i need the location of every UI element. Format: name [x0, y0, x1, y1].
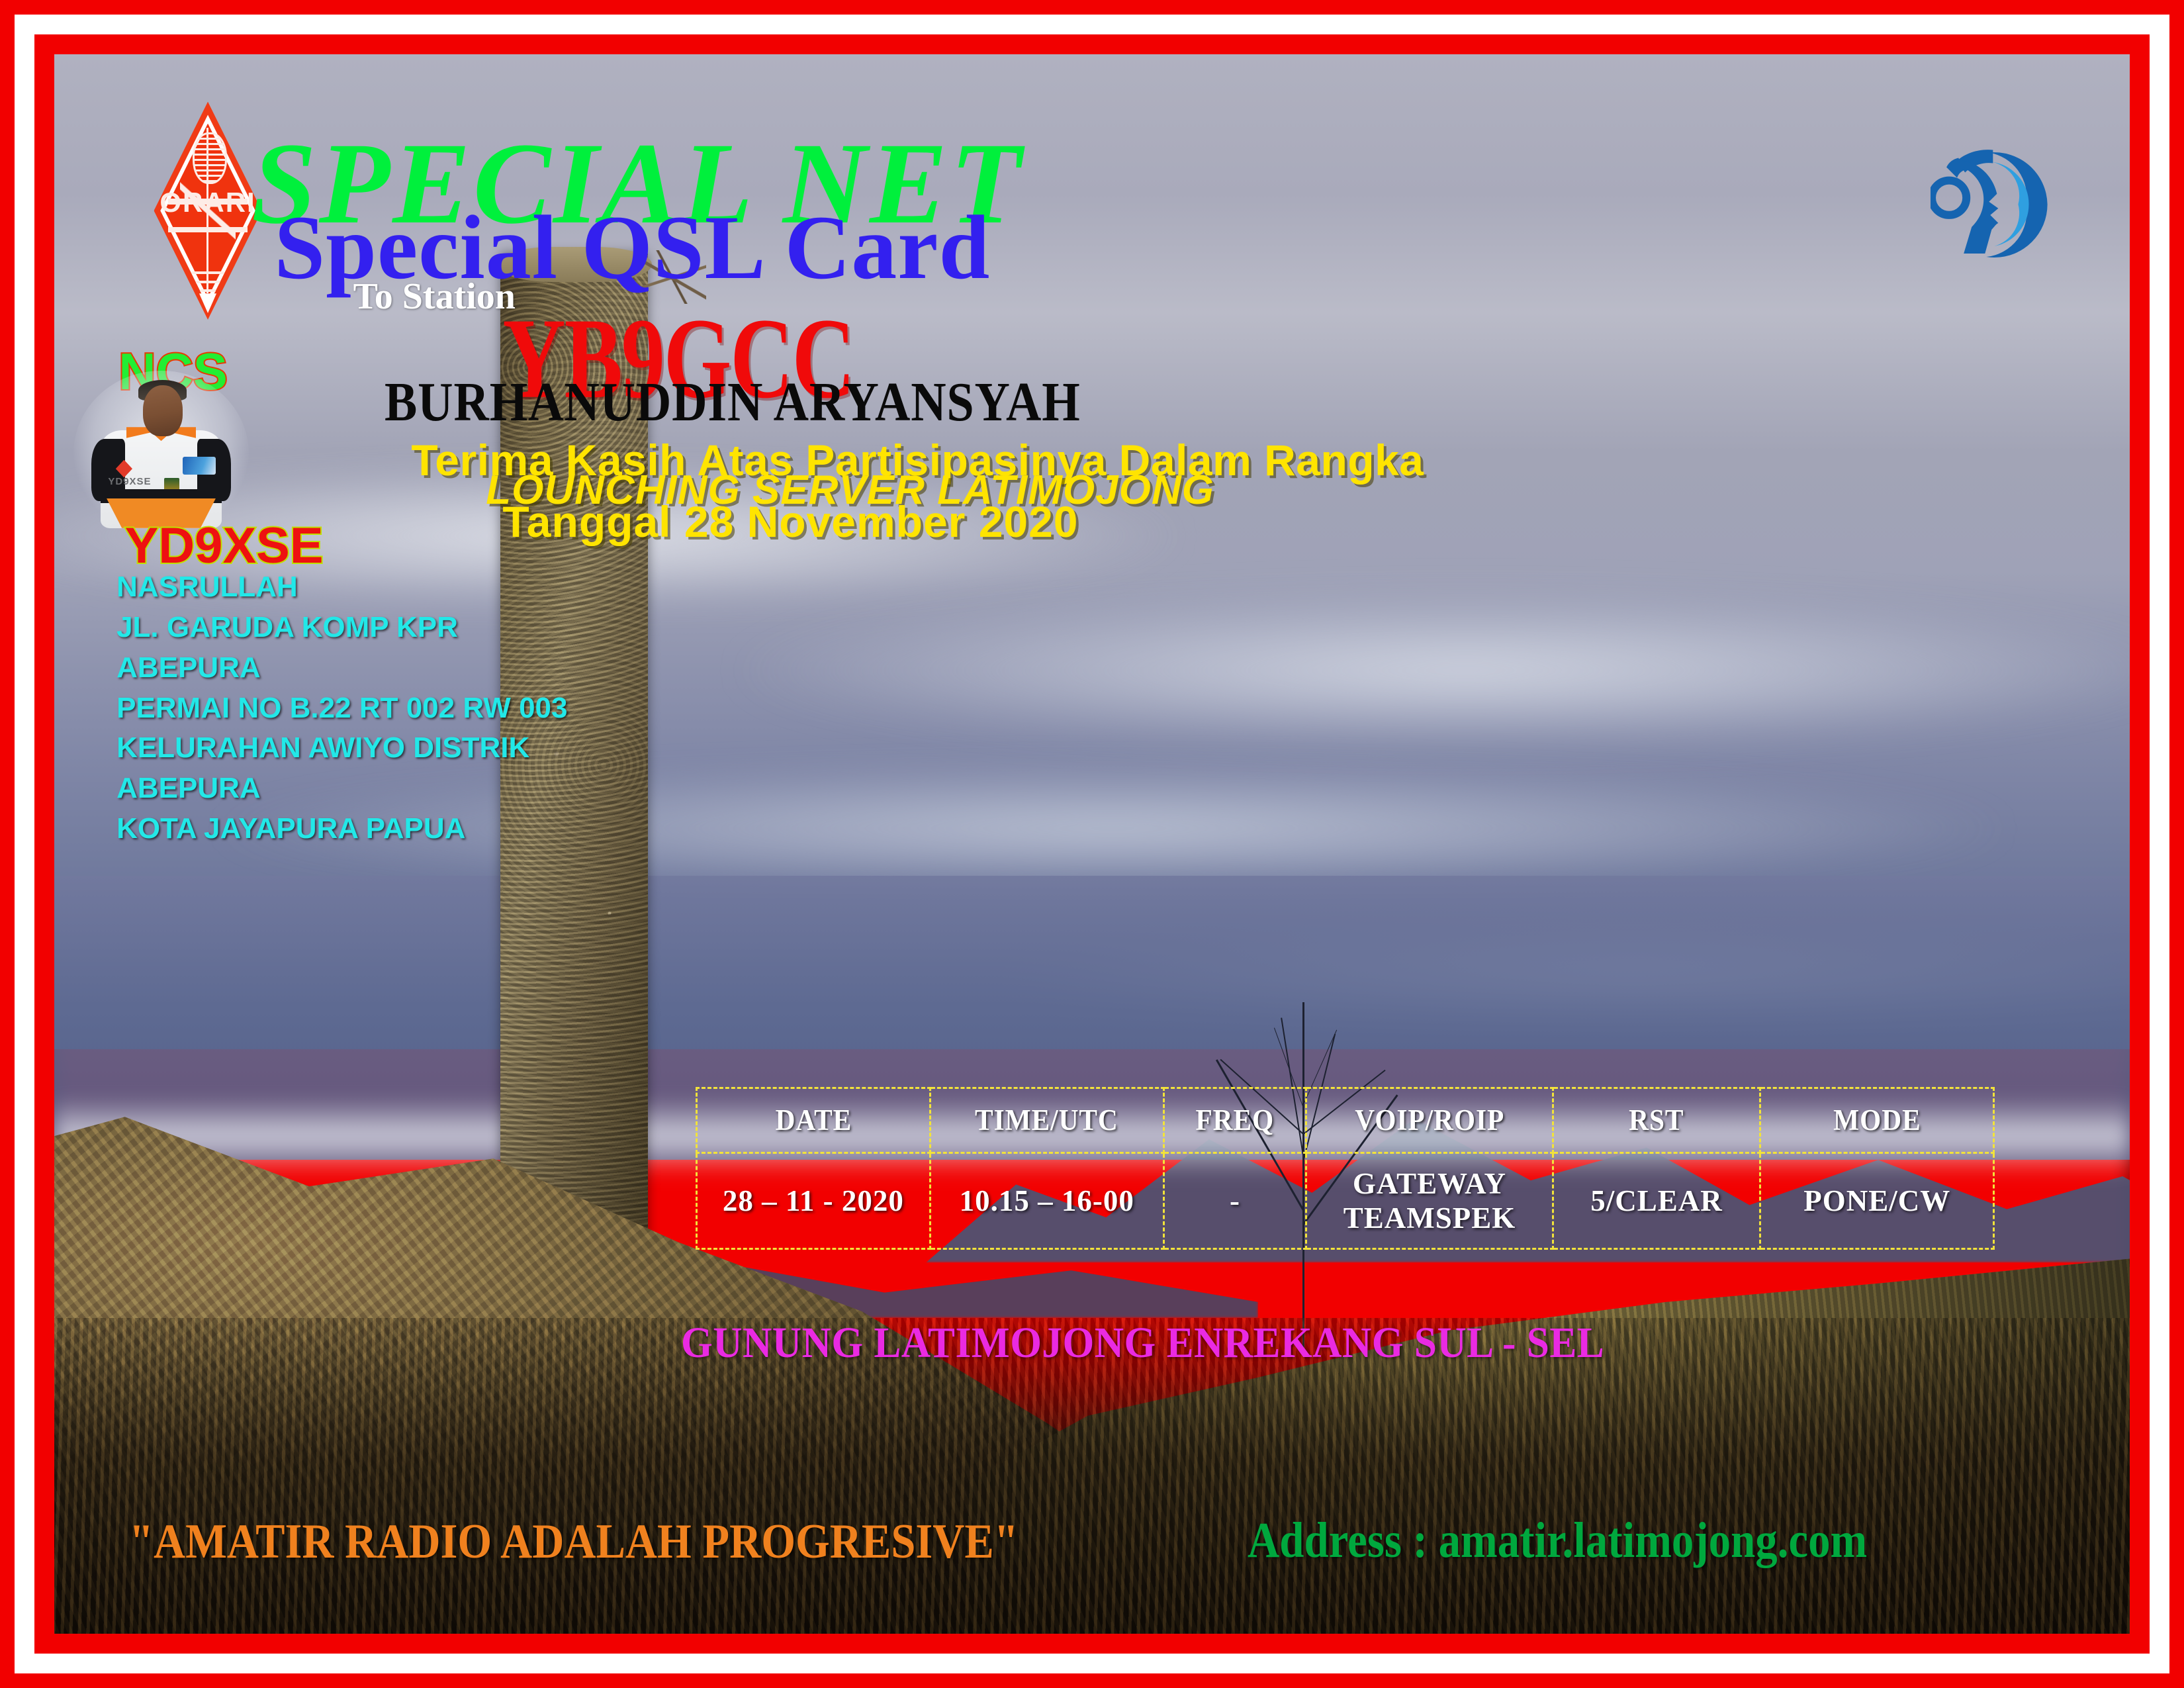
cell-freq: -: [1163, 1152, 1306, 1249]
column-header-voip-roip: VOIP/ROIP: [1316, 1088, 1543, 1152]
table-header-row: DATE TIME/UTC FREQ VOIP/ROIP RST MODE: [697, 1088, 1994, 1152]
to-station-label: To Station: [353, 275, 516, 318]
event-date: Tanggal 28 November 2020: [502, 496, 1078, 547]
table-row: 28 – 11 - 2020 10.15 – 16-00 - GATEWAY T…: [697, 1152, 1994, 1249]
cell-time: 10.15 – 16-00: [930, 1152, 1163, 1249]
address-line: JL. GARUDA KOMP KPR: [116, 608, 567, 648]
cell-voip-line-2: TEAMSPEK: [1343, 1201, 1516, 1235]
address-line: PERMAI NO B.22 RT 002 RW 003: [116, 688, 567, 729]
footer-website: Address : amatir.latimojong.com: [1248, 1512, 1867, 1570]
cell-voip-roip: GATEWAY TEAMSPEK: [1306, 1152, 1553, 1249]
address-line: ABEPURA: [116, 769, 567, 809]
column-header-rst: RST: [1561, 1088, 1752, 1152]
address-line: KOTA JAYAPURA PAPUA: [116, 809, 567, 849]
cell-mode: PONE/CW: [1760, 1152, 1994, 1249]
address-line: KELURAHAN AWIYO DISTRIK: [116, 728, 567, 769]
location-caption: GUNUNG LATIMOJONG ENREKANG SUL - SEL: [681, 1318, 1604, 1368]
operator-name: BURHANUDDIN ARYANSYAH: [385, 370, 1081, 434]
qsl-card: ORARI SPECIAL NET Special QSL Card To St…: [0, 0, 2184, 1688]
column-header-date: DATE: [706, 1088, 921, 1152]
qso-log-table: DATE TIME/UTC FREQ VOIP/ROIP RST MODE 28…: [696, 1087, 1995, 1250]
column-header-time: TIME/UTC: [939, 1088, 1154, 1152]
cell-date: 28 – 11 - 2020: [697, 1152, 931, 1249]
address-line: ABEPURA: [116, 648, 567, 688]
photo-face: [143, 385, 183, 436]
cell-voip-line-1: GATEWAY: [1353, 1167, 1506, 1200]
photo-shoulder-patch: [183, 457, 216, 475]
cloud-layer-2: [719, 591, 2130, 749]
column-header-freq: FREQ: [1169, 1088, 1300, 1152]
headset-profile-logo: [1931, 111, 2064, 298]
photo-shirt-callsign: YD9XSE: [108, 476, 151, 487]
card-photo-area: ORARI SPECIAL NET Special QSL Card To St…: [54, 54, 2130, 1634]
cell-rst: 5/CLEAR: [1553, 1152, 1760, 1249]
orari-logo: ORARI: [154, 102, 262, 320]
address-line: NASRULLAH: [116, 567, 567, 608]
headset-profile-icon: [1931, 111, 2064, 298]
footer-motto: "AMATIR RADIO ADALAH PROGRESIVE": [129, 1514, 1019, 1570]
mailing-address: NASRULLAH JL. GARUDA KOMP KPR ABEPURA PE…: [116, 567, 567, 849]
orari-wordmark: ORARI: [154, 201, 262, 228]
ncs-callsign: YD9XSE: [125, 517, 324, 575]
column-header-mode: MODE: [1770, 1088, 1985, 1152]
operator-photo: YD9XSE: [85, 380, 237, 528]
